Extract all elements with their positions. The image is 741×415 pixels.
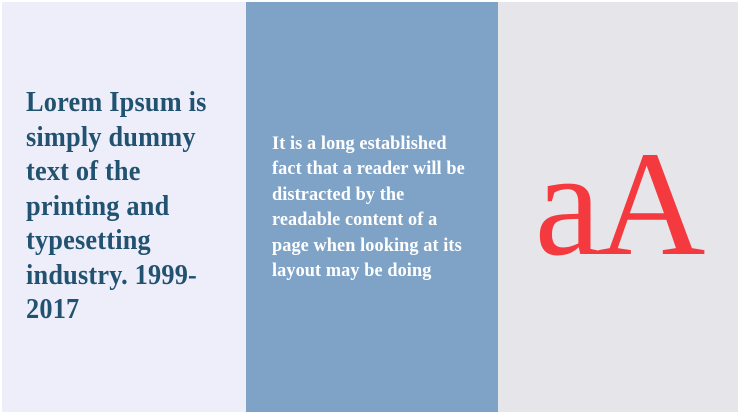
glyph-specimen-panel: aA [498,2,738,412]
font-specimen-poster: Lorem Ipsum is simply dummy text of the … [0,0,741,415]
lorem-heading-panel: Lorem Ipsum is simply dummy text of the … [2,2,246,412]
lorem-paragraph-panel: It is a long established fact that a rea… [246,2,498,412]
lorem-paragraph-text: It is a long established fact that a rea… [272,131,472,284]
lorem-heading-text: Lorem Ipsum is simply dummy text of the … [26,86,220,328]
glyph-specimen-text: aA [535,129,702,279]
